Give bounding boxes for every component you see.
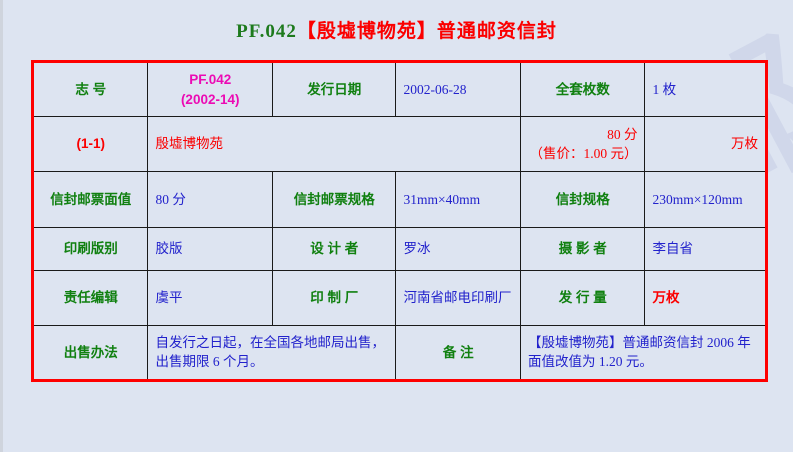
label-issue-number: 志 号 xyxy=(33,62,148,117)
value-stamp-size: 31mm×40mm xyxy=(396,172,521,227)
value-editor: 虞平 xyxy=(148,270,273,325)
value-issue-number-line1: PF.042 xyxy=(155,70,265,90)
page-left-edge-strip xyxy=(0,0,3,452)
label-issue-quantity: 发 行 量 xyxy=(520,270,645,325)
value-face-price-line2: （售价：1.00 元） xyxy=(528,144,638,164)
value-photographer: 李自省 xyxy=(645,227,767,270)
label-issue-date: 发行日期 xyxy=(272,62,396,117)
label-printing-house: 印 制 厂 xyxy=(272,270,396,325)
table-row: (1-1) 殷墟博物苑 80 分 （售价：1.00 元） 万枚 xyxy=(33,117,767,172)
value-designer: 罗冰 xyxy=(396,227,521,270)
value-envelope-size: 230mm×120mm xyxy=(645,172,767,227)
label-stamp-size: 信封邮票规格 xyxy=(272,172,396,227)
table-row: 出售办法 自发行之日起，在全国各地邮局出售，出售期限 6 个月。 备 注 【殷墟… xyxy=(33,325,767,380)
value-issue-number-line2: (2002-14) xyxy=(155,90,265,110)
table-row: 志 号 PF.042 (2002-14) 发行日期 2002-06-28 全套枚… xyxy=(33,62,767,117)
label-item-index: (1-1) xyxy=(33,117,148,172)
page-title-code: PF.042 xyxy=(236,21,297,42)
page-title-name: 【殷墟博物苑】普通邮资信封 xyxy=(297,21,557,42)
value-stamp-face-value: 80 分 xyxy=(148,172,273,227)
label-stamp-face-value: 信封邮票面值 xyxy=(33,172,148,227)
value-issue-number: PF.042 (2002-14) xyxy=(148,62,273,117)
value-set-count: 1 枚 xyxy=(645,62,767,117)
value-issue-date: 2002-06-28 xyxy=(396,62,521,117)
table-row: 印刷版别 胶版 设 计 者 罗冰 摄 影 者 李自省 xyxy=(33,227,767,270)
label-remarks: 备 注 xyxy=(396,325,521,380)
label-set-count: 全套枚数 xyxy=(520,62,645,117)
value-item-name: 殷墟博物苑 xyxy=(148,117,521,172)
table-row: 责任编辑 虞平 印 制 厂 河南省邮电印刷厂 发 行 量 万枚 xyxy=(33,270,767,325)
value-issue-quantity: 万枚 xyxy=(645,270,767,325)
page-title: PF.042【殷墟博物苑】普通邮资信封 xyxy=(0,16,793,43)
value-print-qty: 万枚 xyxy=(645,117,767,172)
table-row: 信封邮票面值 80 分 信封邮票规格 31mm×40mm 信封规格 230mm×… xyxy=(33,172,767,227)
value-print-type: 胶版 xyxy=(148,227,273,270)
value-sale-method: 自发行之日起，在全国各地邮局出售，出售期限 6 个月。 xyxy=(148,325,396,380)
value-remarks: 【殷墟博物苑】普通邮资信封 2006 年面值改值为 1.20 元。 xyxy=(520,325,766,380)
stamp-info-table: 志 号 PF.042 (2002-14) 发行日期 2002-06-28 全套枚… xyxy=(31,60,768,382)
page-root: 中国邮 PF.042【殷墟博物苑】普通邮资信封 志 号 PF.042 (2002… xyxy=(0,0,793,452)
value-printing-house: 河南省邮电印刷厂 xyxy=(396,270,521,325)
value-face-price-line1: 80 分 xyxy=(528,125,638,145)
label-editor: 责任编辑 xyxy=(33,270,148,325)
label-photographer: 摄 影 者 xyxy=(520,227,645,270)
label-print-type: 印刷版别 xyxy=(33,227,148,270)
label-sale-method: 出售办法 xyxy=(33,325,148,380)
label-envelope-size: 信封规格 xyxy=(520,172,645,227)
label-designer: 设 计 者 xyxy=(272,227,396,270)
value-face-price: 80 分 （售价：1.00 元） xyxy=(520,117,645,172)
